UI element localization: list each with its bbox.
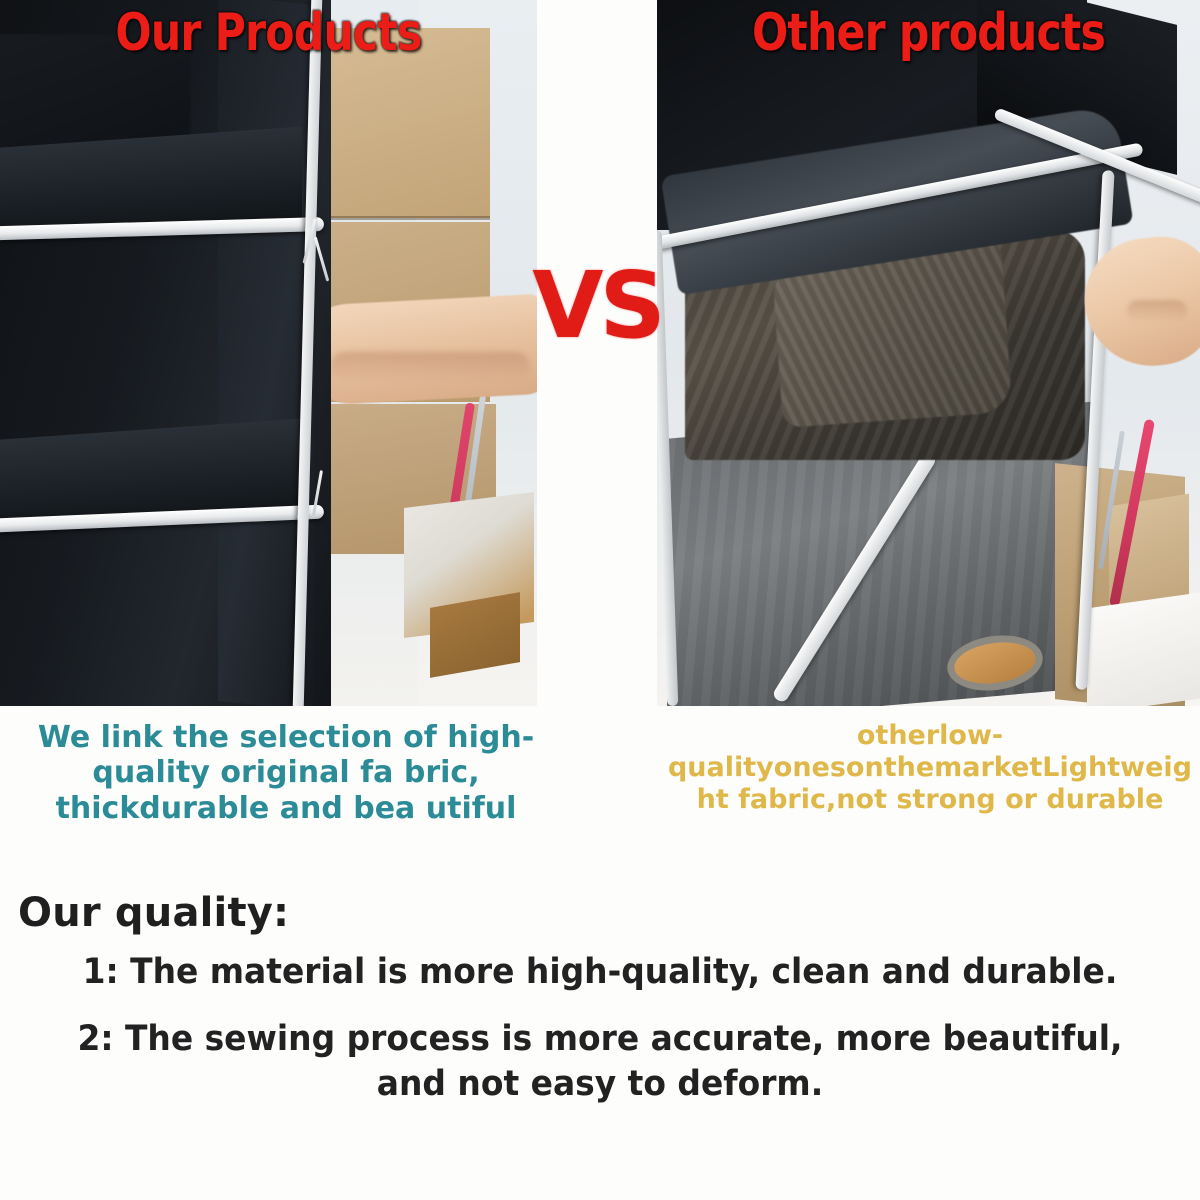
our-product-photo: Our Products: [0, 0, 537, 706]
versus-divider: VS: [537, 0, 657, 706]
our-quality-section: Our quality: 1: The material is more hig…: [0, 878, 1200, 1200]
our-products-headline: Our Products: [48, 3, 488, 63]
our-product-scene: [0, 0, 537, 706]
white-sheet: [1087, 592, 1200, 706]
our-quality-heading: Our quality:: [18, 890, 289, 936]
other-product-caption: otherlow-qualityonesonthemarketLightweig…: [660, 720, 1200, 816]
black-organizer-body: [0, 0, 331, 706]
other-product-photo: Other products: [657, 0, 1200, 706]
quality-points-list: 1: The material is more high-quality, cl…: [0, 950, 1200, 1128]
hand-shadow: [1127, 300, 1187, 322]
caption-row: We link the selection of high-quality or…: [0, 706, 1200, 878]
quality-point: 2: The sewing process is more accurate, …: [36, 1017, 1164, 1107]
other-product-scene: [657, 0, 1200, 706]
fabric-tie: [314, 236, 330, 281]
our-product-caption: We link the selection of high-quality or…: [8, 720, 564, 826]
forearm: [298, 294, 537, 407]
product-comparison-strip: Our Products Other products: [0, 0, 1200, 706]
forearm-shadow: [330, 352, 530, 382]
quality-point: 1: The material is more high-quality, cl…: [36, 950, 1164, 995]
versus-label: VS: [532, 252, 661, 359]
other-products-headline: Other products: [706, 3, 1151, 63]
